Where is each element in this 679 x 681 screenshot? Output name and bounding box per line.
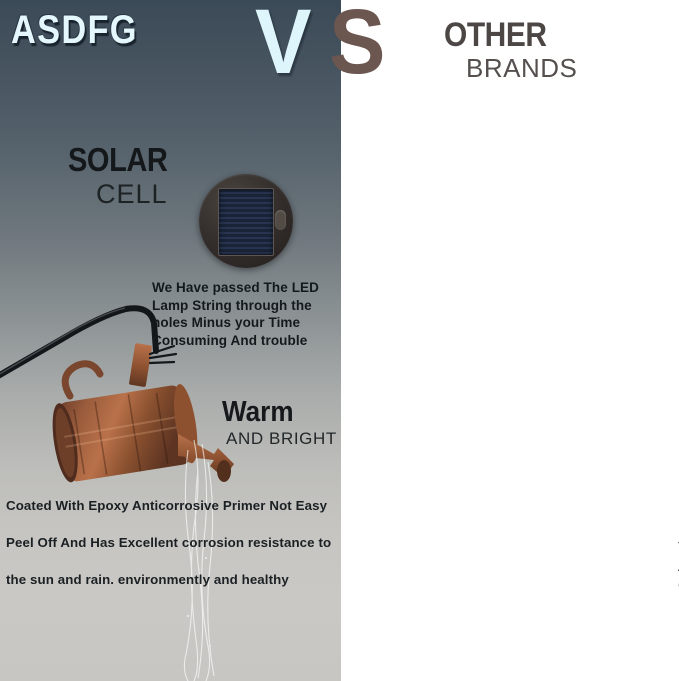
solar-cell-photo-icon <box>199 174 293 268</box>
other-heading: OTHER <box>444 18 547 52</box>
brand-logo: ASDFG <box>11 8 138 53</box>
brands-subheading: BRANDS <box>466 55 577 81</box>
solar-subheading: CELL <box>96 181 168 208</box>
vs-letter-v: V <box>255 0 311 88</box>
comparison-infographic: SOLAR CELL We Have passed The LED Lamp S… <box>0 0 679 681</box>
solar-heading: SOLAR <box>68 143 167 176</box>
left-product-panel: SOLAR CELL We Have passed The LED Lamp S… <box>0 0 341 681</box>
left-feature-paragraph: We Have passed The LED Lamp String throu… <box>152 279 347 349</box>
right-product-panel: LED LIGHT STRING SEPARATION MADE WIHT CH… <box>341 0 679 681</box>
warm-subheading: AND BRIGHT <box>226 430 337 447</box>
warm-heading: Warm <box>222 398 294 427</box>
left-coating-paragraph: Coated With Epoxy Anticorrosive Primer N… <box>6 487 342 598</box>
vs-letter-s: S <box>329 0 385 88</box>
